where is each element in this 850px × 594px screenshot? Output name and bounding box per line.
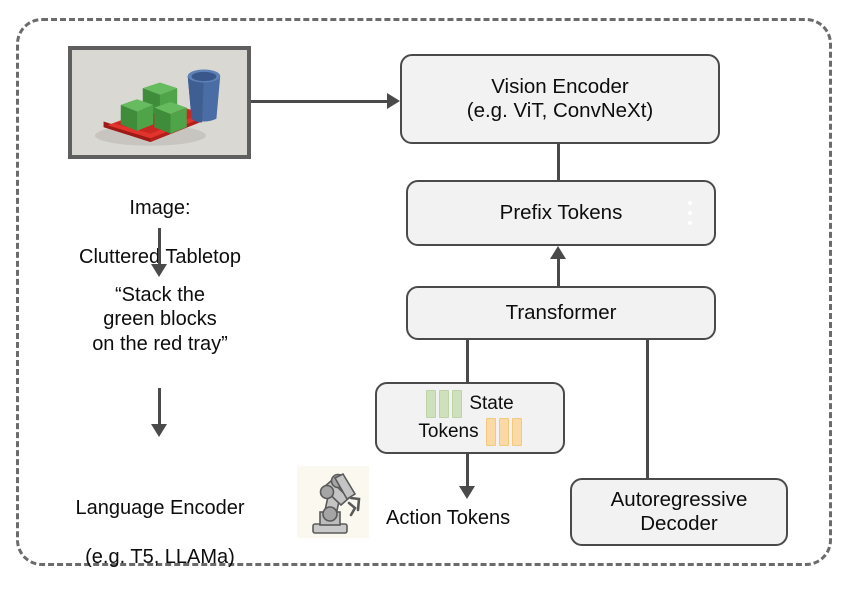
state-tokens-row-2: Tokens	[418, 418, 521, 446]
state-tokens-line1: State	[469, 393, 513, 415]
state-token-bars-green	[426, 390, 462, 418]
arrowhead-state-tokens-to-action-tokens	[459, 486, 475, 499]
connector-instruction-to-language-encoder	[158, 388, 161, 426]
language-encoder-label: Language Encoder (e.g. T5, LLAMa)	[20, 472, 300, 594]
arrowhead-instruction-to-language-encoder	[151, 424, 167, 437]
arrowhead-image-to-vision-encoder	[387, 93, 400, 109]
language-encoder-line1: Language Encoder	[20, 496, 300, 520]
node-transformer[interactable]: Transformer	[406, 286, 716, 340]
node-autoregressive-decoder[interactable]: Autoregressive Decoder	[570, 478, 788, 546]
connector-state-tokens-to-action-tokens	[466, 454, 469, 488]
vision-encoder-line1: Vision Encoder	[491, 75, 629, 99]
vertical-ellipsis-icon	[688, 201, 692, 225]
image-caption-line1: Image:	[30, 196, 290, 220]
arrowhead-transformer-to-prefix-tokens	[550, 246, 566, 259]
language-instruction-text: “Stack the green blocks on the red tray”	[40, 283, 280, 356]
connector-vision-encoder-to-prefix-tokens	[557, 143, 560, 181]
connector-transformer-to-prefix-tokens	[557, 258, 560, 288]
autoregressive-decoder-line2: Decoder	[640, 512, 718, 536]
diagram-canvas: Image: Cluttered Tabletop “Stack the gre…	[0, 0, 850, 594]
connector-transformer-to-state-tokens	[466, 339, 469, 383]
node-prefix-tokens[interactable]: Prefix Tokens	[406, 180, 716, 246]
tabletop-image-thumbnail	[68, 46, 251, 159]
connector-image-to-vision-encoder	[251, 100, 393, 103]
transformer-label: Transformer	[506, 301, 617, 325]
connector-transformer-to-decoder	[646, 339, 649, 479]
action-tokens-label: Action Tokens	[386, 506, 556, 530]
state-token-bars-orange	[486, 418, 522, 446]
state-tokens-row-1: State	[426, 390, 513, 418]
robot-arm-icon	[297, 466, 369, 538]
connector-image-to-instruction	[158, 228, 161, 266]
state-tokens-line2: Tokens	[418, 421, 478, 443]
robot-arm-illustration	[297, 466, 369, 538]
node-vision-encoder[interactable]: Vision Encoder (e.g. ViT, ConvNeXt)	[400, 54, 720, 144]
prefix-tokens-label: Prefix Tokens	[500, 201, 623, 225]
vision-encoder-line2: (e.g. ViT, ConvNeXt)	[467, 99, 653, 123]
tabletop-scene-illustration	[72, 50, 247, 155]
autoregressive-decoder-line1: Autoregressive	[611, 488, 748, 512]
node-state-tokens[interactable]: State Tokens	[375, 382, 565, 454]
language-encoder-line2: (e.g. T5, LLAMa)	[20, 545, 300, 569]
arrowhead-image-to-instruction	[151, 264, 167, 277]
